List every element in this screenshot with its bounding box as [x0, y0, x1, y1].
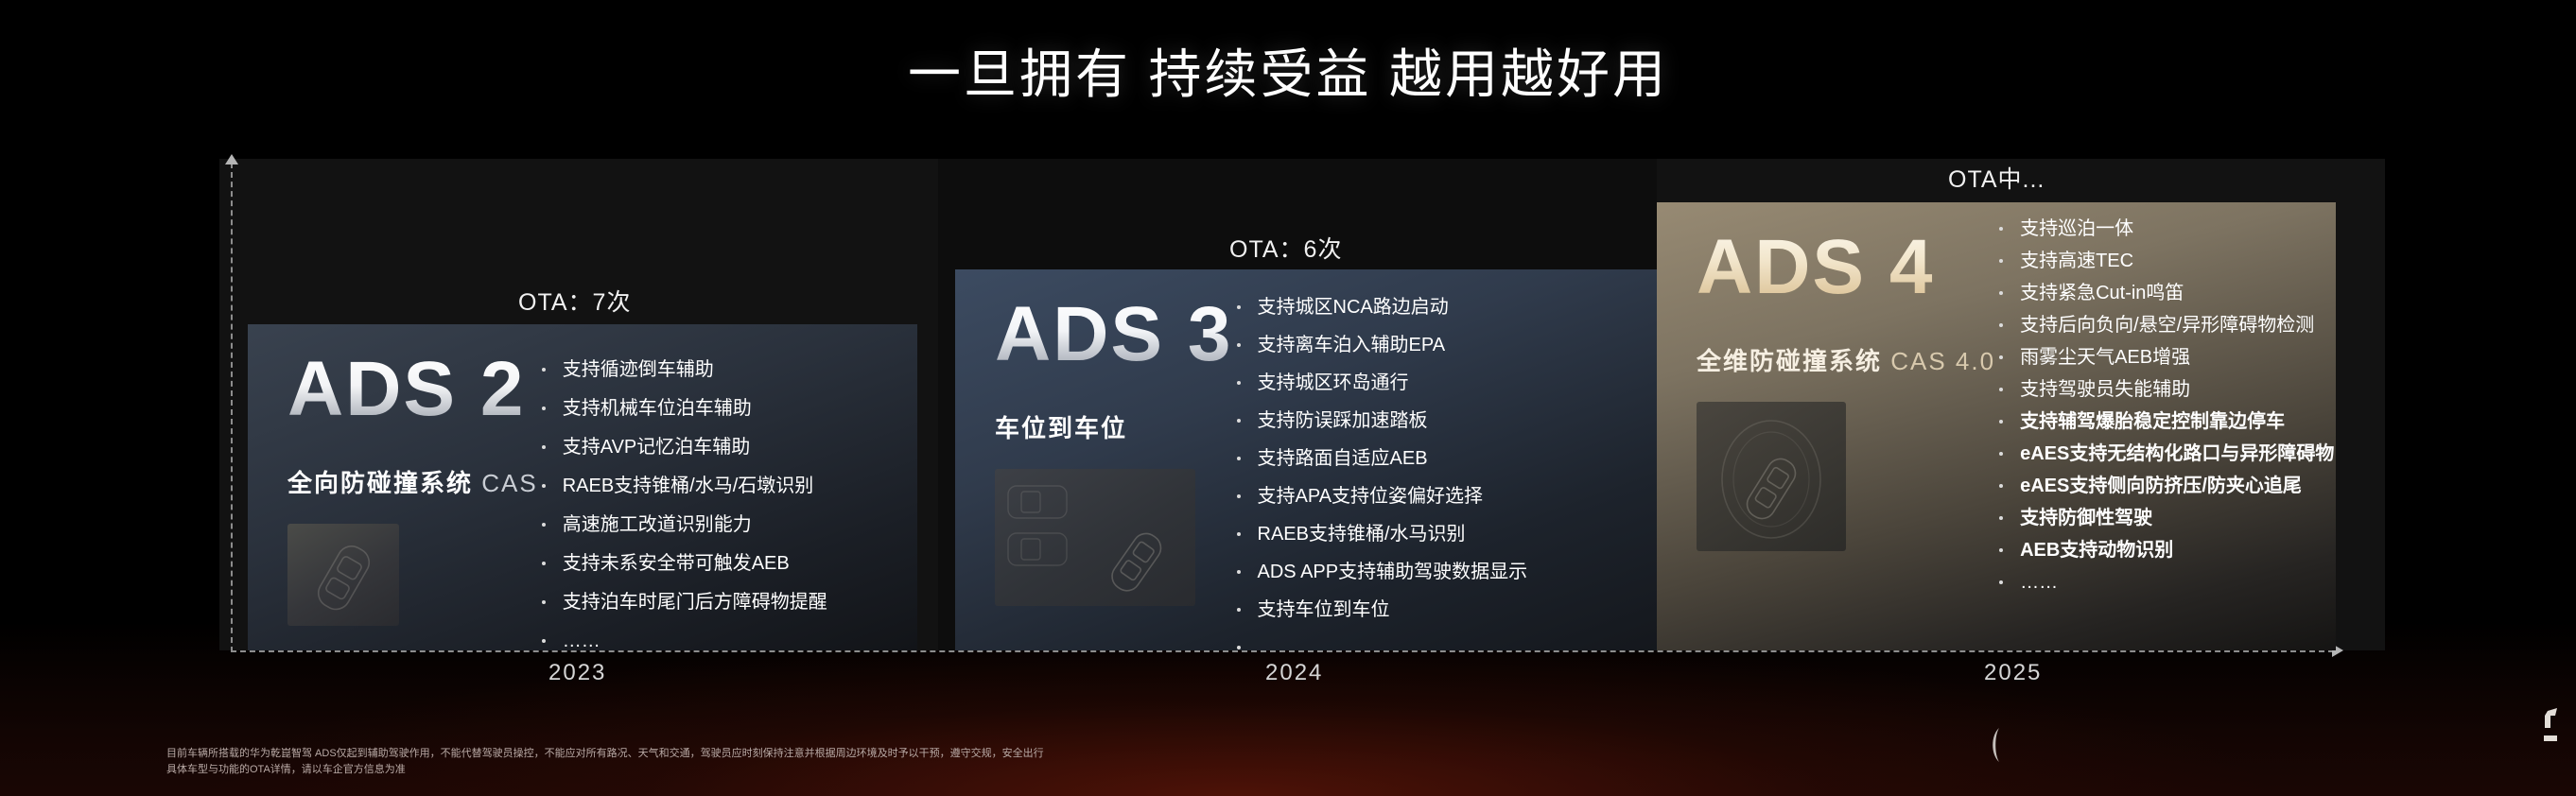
list-item: 支持防误踩加速踏板 [1233, 411, 1674, 430]
list-item: 支持城区环岛通行 [1233, 373, 1674, 392]
timeline-year-2025: 2025 [1984, 660, 2042, 686]
ads2-subtitle-text: 全向防碰撞系统 [287, 469, 473, 497]
timeline-year-2024: 2024 [1265, 660, 1323, 686]
list-item: 支持防御性驾驶 [1995, 509, 2336, 528]
list-item: 支持离车泊入辅助EPA [1233, 336, 1674, 355]
ads4-thumbnail [1697, 402, 1846, 551]
ads3-subtitle-text: 车位到车位 [995, 414, 1127, 442]
list-item: 支持城区NCA路边启动 [1233, 298, 1674, 317]
ads3-feature-list: 支持城区NCA路边启动 支持离车泊入辅助EPA 支持城区环岛通行 支持防误踩加速… [1233, 269, 1674, 650]
ads2-feature-list: 支持循迹倒车辅助 支持机械车位泊车辅助 支持AVP记忆泊车辅助 RAEB支持锥桶… [538, 324, 917, 650]
horizontal-timeline-axis [231, 650, 2334, 652]
disclaimer-line-2: 具体车型与功能的OTA详情，请以车企官方信息为准 [166, 762, 1044, 778]
ota-count-label-ads3: OTA：6次 [1229, 231, 1342, 265]
list-item: eAES支持侧向防挤压/防夹心追尾 [1995, 476, 2336, 495]
ads4-feature-list: 支持巡泊一体 支持高速TEC 支持紧急Cut-in鸣笛 支持后向负向/悬空/异形… [1995, 202, 2336, 605]
ads4-card[interactable]: ADS 4 全维防碰撞系统 CAS 4.0 支持巡泊一体 支持高速 [1657, 202, 2336, 650]
list-item: 支持紧急Cut-in鸣笛 [1995, 284, 2336, 303]
list-item: eAES支持无结构化路口与异形障碍物 [1995, 444, 2336, 463]
list-item: 支持泊车时尾门后方障碍物提醒 [538, 593, 917, 612]
ota-count-label-ads2: OTA：7次 [518, 284, 631, 318]
list-item: 支持APA支持位姿偏好选择 [1233, 487, 1674, 506]
parking-cars-icon [995, 469, 1195, 606]
list-item: 支持后向负向/悬空/异形障碍物检测 [1995, 316, 2336, 335]
ads2-subtitle-suffix: CAS [481, 469, 537, 497]
list-item: 高速施工改道识别能力 [538, 515, 917, 534]
vertical-axis [231, 163, 233, 652]
list-item: …… [538, 632, 917, 650]
disclaimer-line-1: 目前车辆所搭载的华为乾崑智驾 ADS仅起到辅助驾驶作用，不能代替驾驶员操控，不能… [166, 746, 1044, 762]
list-item: ADS APP支持辅助驾驶数据显示 [1233, 562, 1674, 581]
list-item: 支持路面自适应AEB [1233, 449, 1674, 468]
ads2-card[interactable]: ADS 2 全向防碰撞系统 CAS 支持循迹倒车辅助 支持机械车位泊车辅助 支持… [248, 324, 917, 650]
shield-car-icon [1697, 402, 1846, 551]
list-item: 支持车位到车位 [1233, 600, 1674, 619]
ads2-subtitle: 全向防碰撞系统 CAS [287, 464, 538, 499]
ads3-thumbnail [995, 469, 1195, 606]
ads4-subtitle: 全维防碰撞系统 CAS 4.0 [1697, 342, 1995, 377]
ads3-subtitle: 车位到车位 [995, 409, 1233, 444]
list-item: RAEB支持锥桶/水马识别 [1233, 525, 1674, 544]
ads2-name: ADS 2 [287, 351, 538, 428]
ads4-name: ADS 4 [1697, 229, 1995, 306]
ota-count-label-ads4: OTA中... [1948, 161, 2045, 195]
list-item: …… [1233, 638, 1674, 650]
list-item: 支持辅驾爆胎稳定控制靠边停车 [1995, 412, 2336, 431]
up-arrow-icon [225, 154, 238, 164]
timeline-year-2023: 2023 [548, 660, 606, 686]
partial-logo-icon [2538, 707, 2563, 754]
list-item: 支持机械车位泊车辅助 [538, 399, 917, 418]
ads4-subtitle-text: 全维防碰撞系统 [1697, 347, 1882, 375]
list-item: …… [1995, 573, 2336, 592]
slide-canvas: 一旦拥有 持续受益 越用越好用 OTA：7次 OTA：6次 OTA中... AD… [0, 0, 2576, 796]
list-item: 支持循迹倒车辅助 [538, 360, 917, 379]
list-item: 支持驾驶员失能辅助 [1995, 380, 2336, 399]
ads2-card-header: ADS 2 全向防碰撞系统 CAS [248, 324, 538, 626]
list-item: 支持高速TEC [1995, 251, 2336, 270]
page-title: 一旦拥有 持续受益 越用越好用 [0, 44, 2576, 105]
list-item: AEB支持动物识别 [1995, 541, 2336, 560]
crescent-mark-icon [1988, 726, 2003, 764]
list-item: 支持未系安全带可触发AEB [538, 554, 917, 573]
ads3-card[interactable]: ADS 3 车位到车位 [955, 269, 1674, 650]
ads3-card-header: ADS 3 车位到车位 [955, 269, 1233, 606]
disclaimer: 目前车辆所搭载的华为乾崑智驾 ADS仅起到辅助驾驶作用，不能代替驾驶员操控，不能… [166, 746, 1044, 778]
list-item: 雨雾尘天气AEB增强 [1995, 348, 2336, 367]
ads4-card-header: ADS 4 全维防碰撞系统 CAS 4.0 [1657, 202, 1995, 551]
list-item: 支持AVP记忆泊车辅助 [538, 438, 917, 457]
list-item: RAEB支持锥桶/水马/石墩识别 [538, 476, 917, 495]
ads3-name: ADS 3 [995, 296, 1233, 373]
ads4-subtitle-suffix: CAS 4.0 [1890, 347, 1995, 375]
ads2-thumbnail [287, 524, 399, 626]
list-item: 支持巡泊一体 [1995, 219, 2336, 238]
car-outline-icon [287, 524, 399, 626]
